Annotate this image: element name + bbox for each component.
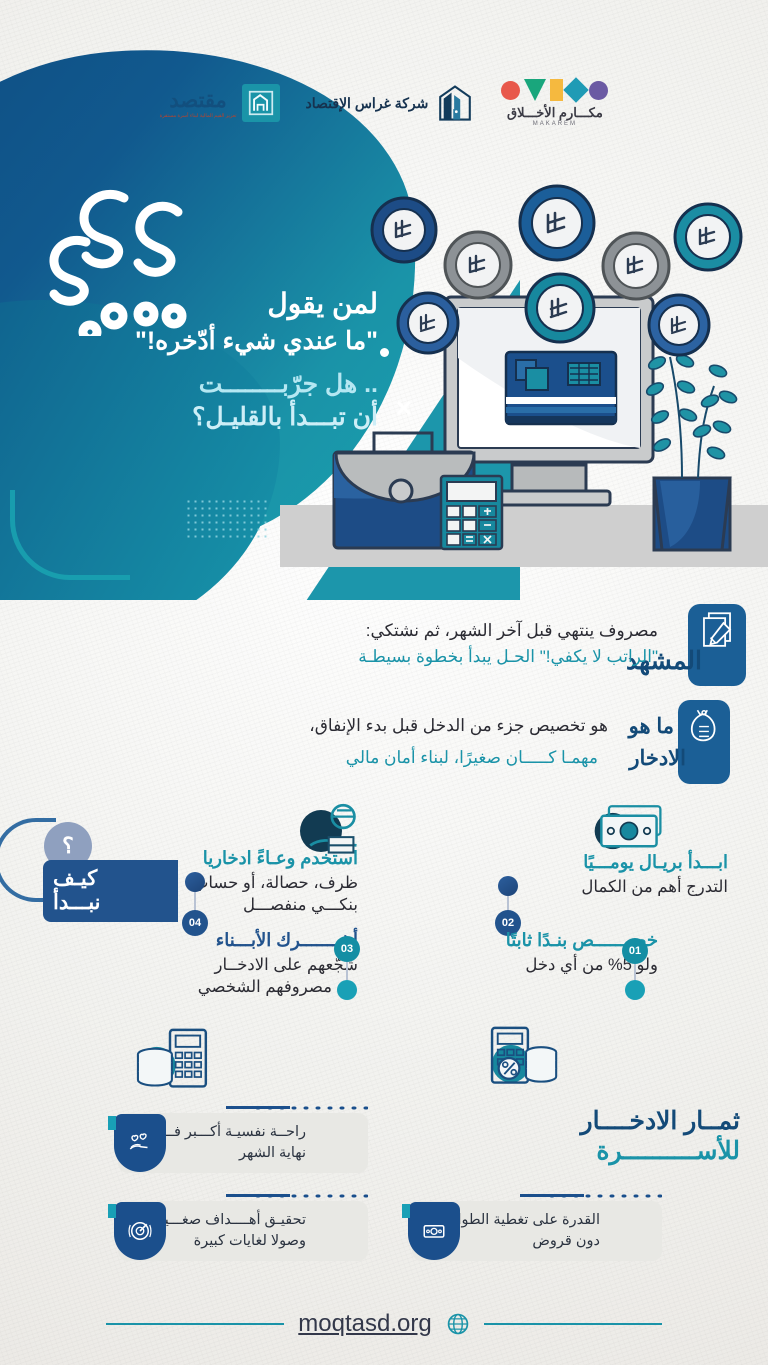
coins-percent-icon (486, 1026, 566, 1092)
footer-rule-right (106, 1323, 284, 1326)
plant-pot-icon (645, 353, 739, 550)
riyal-coin (649, 295, 709, 355)
step-04-connector (194, 892, 196, 912)
fruit-card-1-line-2: نهاية الشهر (239, 1145, 306, 1161)
moqtasd-wordmark: مقتصد تعزيز القيم المالية لبناء أسرة مست… (160, 88, 237, 119)
step-03-number: 03 (334, 936, 360, 962)
headline-line-1: لمن يقول (28, 286, 378, 323)
heart-hand-icon (114, 1114, 166, 1172)
coin-group (372, 186, 741, 355)
fruits-title-line-1: ثمــار الادخــــار (581, 1106, 740, 1136)
fruits-title: ثمــار الادخــــار للأســــــــــرة (581, 1106, 740, 1166)
coins-calculator-icon (130, 1028, 210, 1094)
makarem-latin-name: MAKAREM (533, 121, 577, 127)
step-01-number: 01 (622, 938, 648, 964)
footer-rule-left (484, 1323, 662, 1326)
step-01: خصـــــــص بنـدًا ثابتًا ولو 5% من أي دخ… (408, 930, 658, 976)
riyal-coin (520, 186, 594, 260)
step-01-title: خصـــــــص بنـدًا ثابتًا (408, 930, 658, 952)
scene-line-1: مصروف ينتهي قبل آخر الشهر، ثم نشتكي: (98, 618, 658, 644)
what-is-line-1: هو تخصيص جزء من الدخل قبل بدء الإنفاق، (108, 716, 608, 736)
moqtasd-tagline: تعزيز القيم المالية لبناء أسرة مستقرة (160, 113, 237, 119)
riyal-coin (372, 198, 436, 262)
how-badge-line-1: كيـف (53, 867, 97, 891)
fruit-card-3-line-2: دون قروض (532, 1233, 600, 1249)
ghiras-name: شركة غراس الإقتصاد (306, 95, 429, 112)
makarem-name: مكـــارم الأخـــلاق (507, 105, 603, 121)
website-link[interactable]: moqtasd.org (298, 1310, 431, 1338)
decorative-dot-grid (185, 498, 267, 538)
scene-line-2: "الراتب لا يكفي!" الحـل يبدأ بخطوة بسيطـ… (98, 644, 658, 670)
fruits-section: ثمــار الادخــــار للأســــــــــرة راحـ… (0, 1098, 768, 1288)
scene-body: مصروف ينتهي قبل آخر الشهر، ثم نشتكي: "ال… (98, 618, 658, 671)
calculator-icon (441, 476, 502, 549)
globe-icon (446, 1312, 470, 1336)
what-is-line-2: مهمـا كـــــان صغيرًا، لبناء أمان مالي (128, 748, 598, 768)
fruit-card-3-dots (546, 1192, 662, 1200)
how-to-start-section: ؟ كيـف نبـــدأ استخدم وعـاءً ادخاريا ظرف… (0, 800, 768, 1100)
shield-accent-tab (108, 1116, 116, 1130)
what-is-saving-section: ما هو الادخار هو تخصيص جزء من الدخل قبل … (0, 700, 768, 800)
riyal-coin (445, 232, 511, 298)
step-02-title: ابـــدأ بريـال يومـــيًا (438, 852, 728, 874)
target-arrow-icon (114, 1202, 166, 1260)
step-02: ابـــدأ بريـال يومـــيًا التدرج أهم من ا… (438, 852, 728, 898)
makarem-shapes-icon (501, 79, 608, 101)
ghiras-house-icon (435, 83, 475, 123)
footer: moqtasd.org (0, 1300, 768, 1348)
step-04-body: ظرف، حصالة، أو حساب بنكـــي منفصـــل (108, 872, 358, 917)
ghiras-lockup: شركة غراس الإقتصاد (306, 83, 476, 123)
step-03-connector (346, 962, 348, 980)
what-is-keyword-2: الادخار (629, 746, 686, 771)
shield-accent-tab (108, 1204, 116, 1218)
step-02-pip (498, 876, 518, 896)
fruit-card-1-dots (252, 1104, 368, 1112)
cash-icon (408, 1202, 460, 1260)
fruits-title-line-2: للأســــــــــرة (581, 1136, 740, 1166)
moqtasd-lockup: مقتصد تعزيز القيم المالية لبناء أسرة مست… (160, 84, 280, 122)
ghiras-house-logo: شركة غراس الإقتصاد (306, 83, 476, 123)
step-01-body: ولو 5% من أي دخل (408, 954, 658, 976)
fruit-card-2: تحقيـق أهــــداف صغـــيرة وصولا لغايات ك… (118, 1201, 368, 1261)
step-03: أشـــــــرك الأبـــناء شجّعهم على الادخـ… (88, 930, 358, 998)
step-04-title: استخدم وعـاءً ادخاريا (108, 848, 358, 870)
partner-logo-bar: مكـــارم الأخـــلاق MAKAREM شركة غراس ال… (0, 72, 768, 134)
what-is-keyword-1: ما هو (629, 714, 674, 739)
hero-headline: لمن يقول "ما عندي شيء أدّخره!" .. هل جرّ… (28, 286, 378, 434)
step-04-pip (185, 872, 205, 892)
shield-accent-tab (402, 1204, 410, 1218)
credit-card-icon (506, 352, 616, 424)
fruit-card-1: راحــة نفسيـة أكـــبر فـــي نهاية الشهر (118, 1113, 368, 1173)
moqtasd-name: مقتصد (169, 88, 226, 113)
riyal-coin (526, 274, 594, 342)
riyal-coin (675, 204, 741, 270)
step-01-connector (634, 964, 636, 980)
riyal-coin (398, 293, 458, 353)
step-03-pip (337, 980, 357, 1000)
step-03-body: شجّعهم على الادخــار من مصروفهم الشخصي (88, 954, 358, 999)
headline-line-3: .. هل جرّبــــــــت (28, 368, 378, 401)
fruit-card-1-line-1: راحــة نفسيـة أكـــبر فـــي (149, 1124, 306, 1140)
step-02-body: التدرج أهم من الكمال (438, 876, 728, 898)
scene-section: المشهد مصروف ينتهي قبل آخر الشهر، ثم نشت… (0, 604, 768, 696)
moqtasd-mark-icon (242, 84, 280, 122)
fruit-card-2-line-1: تحقيـق أهــــداف صغـــيرة (149, 1212, 306, 1228)
fruit-card-3: القدرة على تغطية الطوارئ دون قروض (412, 1201, 662, 1261)
makarem-shapes-logo: مكـــارم الأخـــلاق MAKAREM (501, 79, 608, 127)
how-badge-line-2: نبـــدأ (53, 891, 101, 915)
fruit-card-3-line-1: القدرة على تغطية الطوارئ (439, 1212, 600, 1228)
step-01-pip (625, 980, 645, 1000)
step-04: استخدم وعـاءً ادخاريا ظرف، حصالة، أو حسا… (108, 848, 358, 916)
desk-savings-illustration (330, 175, 750, 575)
fruit-card-2-dots (252, 1192, 368, 1200)
headline-line-2: "ما عندي شيء أدّخره!" (28, 325, 378, 358)
step-03-title: أشـــــــرك الأبـــناء (88, 930, 358, 952)
headline-line-4: أن تبـــدأ بالقليـل؟ (28, 401, 378, 434)
moqtasd-mark-logo: مقتصد تعزيز القيم المالية لبناء أسرة مست… (160, 84, 280, 122)
money-bag-icon (678, 700, 730, 784)
riyal-coin (603, 233, 669, 299)
fruit-card-2-line-2: وصولا لغايات كبيرة (194, 1233, 306, 1249)
